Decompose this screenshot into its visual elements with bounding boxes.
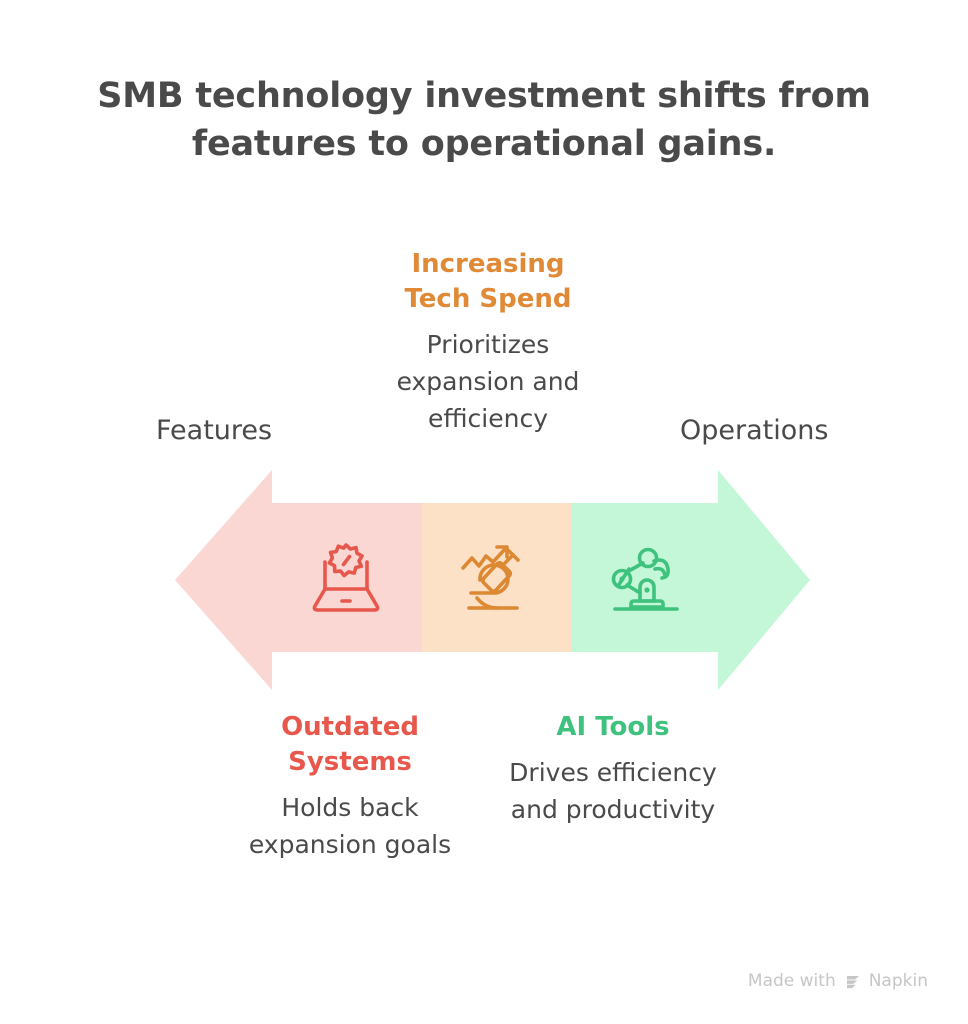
axis-label-operations: Operations [680,415,828,446]
watermark-brand: Napkin [869,971,928,991]
watermark-prefix: Made with [748,971,836,991]
callout-outdated-systems: Outdated Systems Holds back expansion go… [222,710,478,863]
robot-arm-icon [603,535,689,621]
callout-top-heading: Increasing Tech Spend [360,247,616,317]
page-title: SMB technology investment shifts from fe… [0,72,968,168]
card-increasing-tech-spend[interactable] [424,503,567,652]
title-line-1: SMB technology investment shifts from [0,72,968,120]
napkin-logo-icon [843,972,862,991]
callout-bottom-right-description: Drives efficiency and productivity [485,754,741,828]
card-outdated-systems[interactable] [275,503,417,652]
callout-bottom-left-heading: Outdated Systems [222,710,478,780]
callout-bottom-left-description: Holds back expansion goals [222,789,478,863]
laptop-error-icon [303,535,389,621]
callout-top-heading-line-1: Increasing [360,247,616,282]
microscope-growth-icon [453,535,539,621]
callout-top-description: Prioritizes expansion and efficiency [360,326,616,437]
callout-ai-tools: AI Tools Drives efficiency and productiv… [485,710,741,828]
callout-bottom-right-heading: AI Tools [485,710,741,745]
callout-top-heading-line-2: Tech Spend [360,282,616,317]
callout-bottom-left-heading-line-1: Outdated [222,710,478,745]
card-row [0,460,968,700]
infographic-canvas: SMB technology investment shifts from fe… [0,0,968,1024]
title-line-2: features to operational gains. [0,120,968,168]
callout-bottom-left-heading-line-2: Systems [222,745,478,780]
card-ai-tools[interactable] [574,503,718,652]
callout-increasing-tech-spend: Increasing Tech Spend Prioritizes expans… [360,247,616,437]
bidirectional-arrow [0,460,968,700]
watermark: Made with Napkin [748,971,928,991]
axis-label-features: Features [156,415,272,446]
